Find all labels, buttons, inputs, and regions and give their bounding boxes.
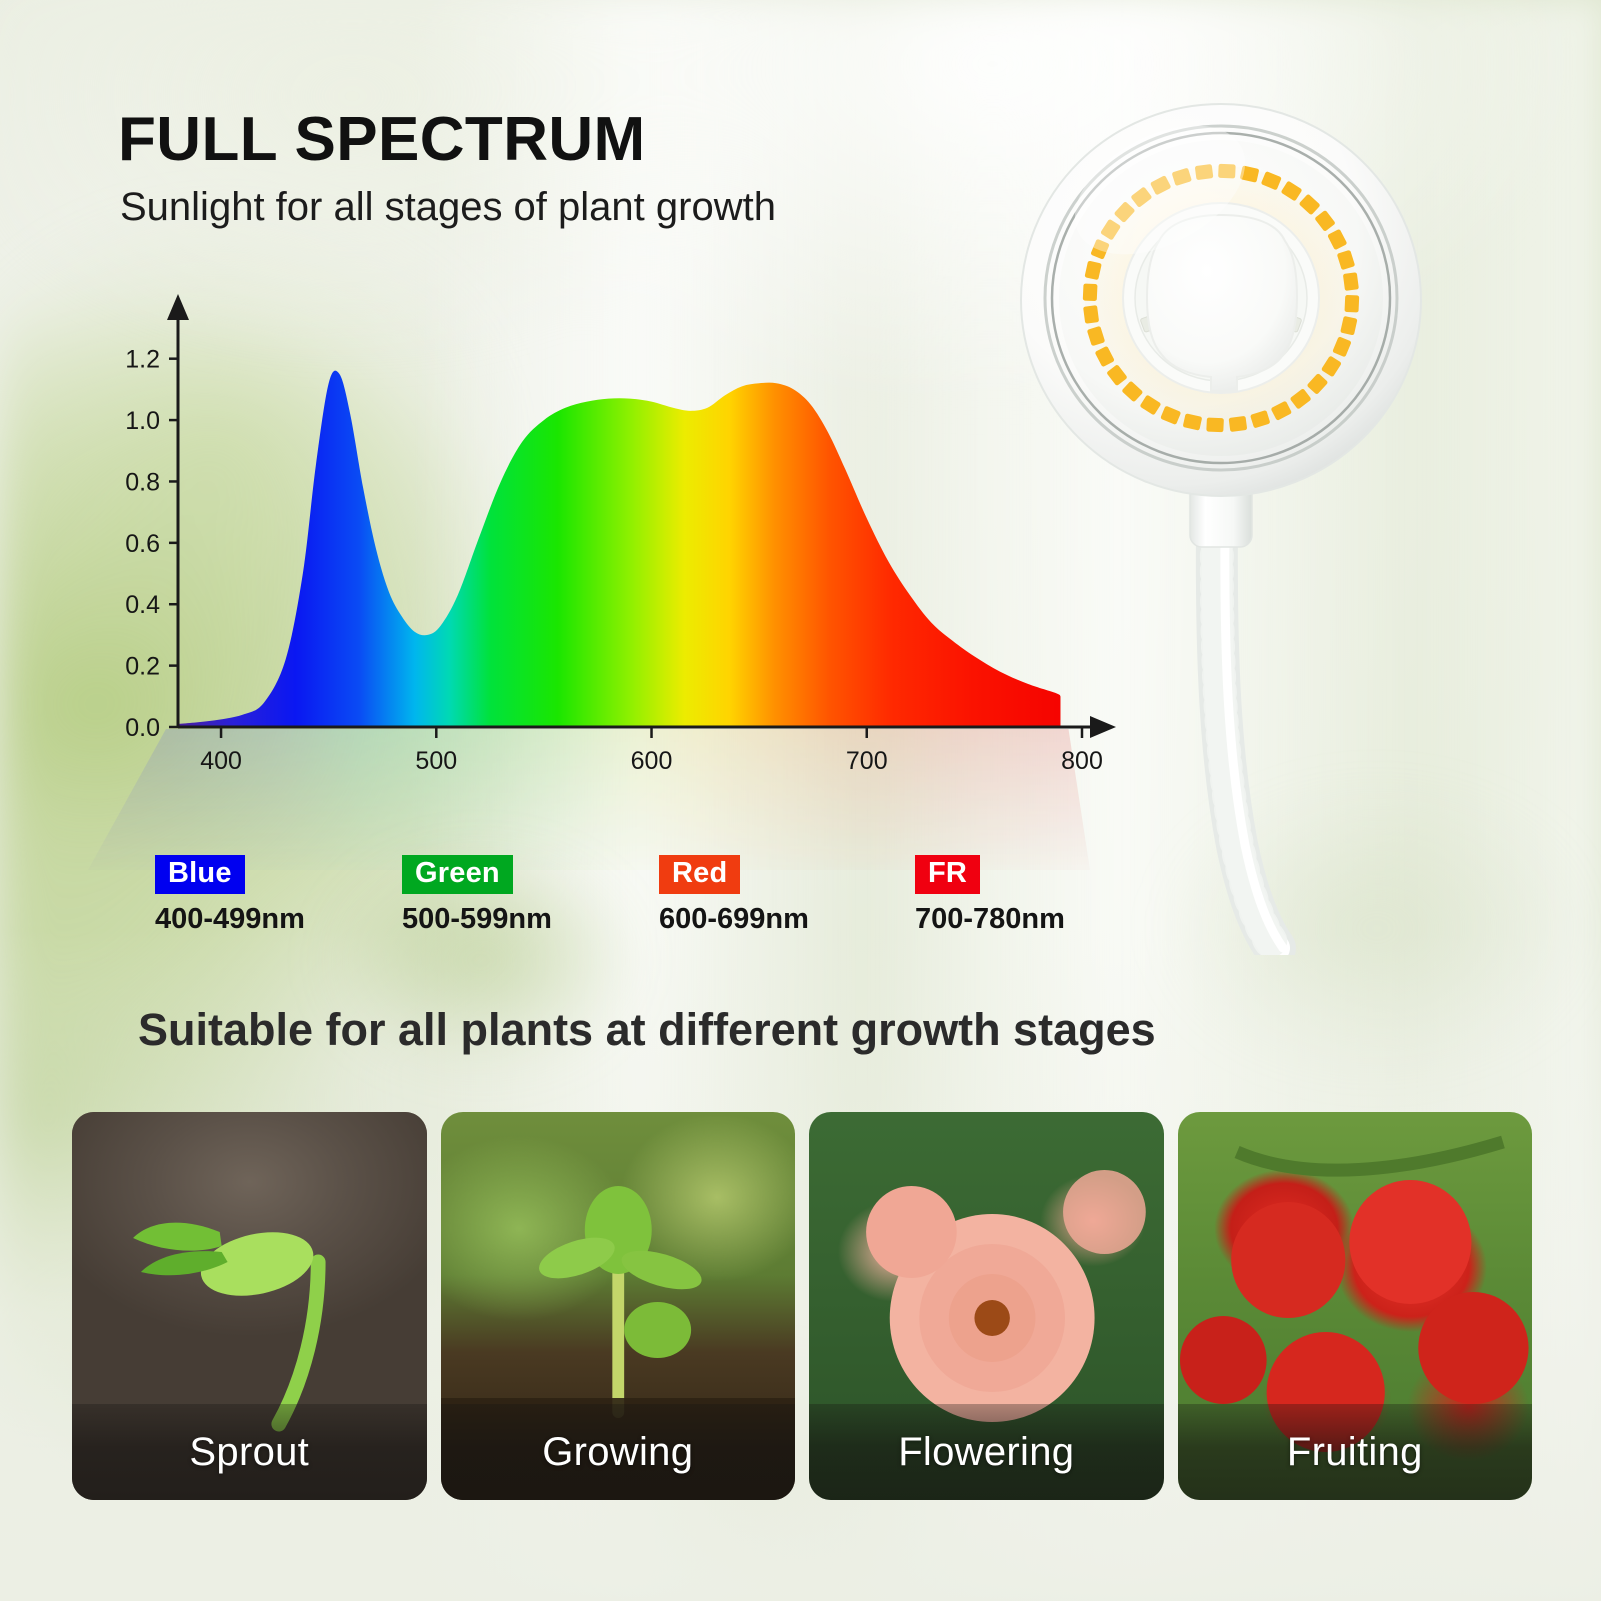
led-chip	[1343, 272, 1359, 291]
legend-item-red: Red600-699nm	[659, 855, 809, 936]
growth-stage-card[interactable]: Fruiting	[1178, 1112, 1533, 1500]
legend-range: 500-599nm	[402, 903, 552, 936]
card-caption: Sprout	[189, 1430, 309, 1475]
legend-item-blue: Blue400-499nm	[155, 855, 305, 936]
led-chip	[1083, 283, 1098, 301]
led-chip	[1206, 417, 1224, 432]
card-caption-bar: Flowering	[809, 1404, 1164, 1500]
card-caption-bar: Growing	[441, 1404, 796, 1500]
spectrum-chart: 0.00.20.40.60.81.01.2 400500600700800	[60, 290, 1090, 870]
legend-range: 600-699nm	[659, 903, 809, 936]
legend-badge: FR	[915, 855, 980, 894]
legend-badge: Green	[402, 855, 513, 894]
section-heading: Suitable for all plants at different gro…	[138, 1004, 1156, 1056]
spectrum-legend: Blue400-499nmGreen500-599nmRed600-699nmF…	[155, 855, 1115, 945]
led-chip	[1083, 305, 1099, 324]
legend-badge: Blue	[155, 855, 245, 894]
ring-light-head	[1021, 99, 1421, 496]
legend-badge: Red	[659, 855, 740, 894]
y-tick-label: 0.8	[125, 468, 160, 496]
y-tick-label: 0.0	[125, 714, 160, 742]
card-caption: Growing	[542, 1430, 693, 1475]
spectrum-chart-svg: 0.00.20.40.60.81.01.2 400500600700800	[60, 290, 1090, 870]
x-tick-label: 400	[200, 747, 242, 775]
page-title: FULL SPECTRUM	[118, 104, 646, 175]
led-chip	[1344, 295, 1359, 313]
product-photo-ring-light	[985, 55, 1465, 955]
infographic-root: FULL SPECTRUM Sunlight for all stages of…	[0, 0, 1601, 1601]
card-caption-bar: Fruiting	[1178, 1404, 1533, 1500]
ring-light-svg	[985, 55, 1465, 955]
page-subtitle: Sunlight for all stages of plant growth	[120, 185, 776, 230]
y-tick-label: 1.0	[125, 407, 160, 435]
spectrum-curve-fill	[178, 308, 1082, 727]
y-tick-label: 0.6	[125, 530, 160, 558]
card-caption-bar: Sprout	[72, 1404, 427, 1500]
growth-stage-cards: Sprout Growing Flowering	[72, 1112, 1532, 1512]
legend-item-green: Green500-599nm	[402, 855, 552, 936]
growth-stage-card[interactable]: Flowering	[809, 1112, 1164, 1500]
legend-range: 400-499nm	[155, 903, 305, 936]
card-caption: Fruiting	[1287, 1430, 1423, 1475]
y-tick-label: 1.2	[125, 346, 160, 374]
y-tick-label: 0.2	[125, 653, 160, 681]
gooseneck-stem	[1217, 525, 1283, 948]
growth-stage-card[interactable]: Sprout	[72, 1112, 427, 1500]
x-tick-label: 700	[846, 747, 888, 775]
led-chip	[1229, 416, 1248, 432]
card-caption: Flowering	[898, 1430, 1074, 1475]
growth-stage-card[interactable]: Growing	[441, 1112, 796, 1500]
y-tick-label: 0.4	[125, 591, 160, 619]
x-tick-label: 600	[631, 747, 673, 775]
y-axis-ticks: 0.00.20.40.60.81.01.2	[125, 346, 178, 742]
x-tick-label: 500	[415, 747, 457, 775]
